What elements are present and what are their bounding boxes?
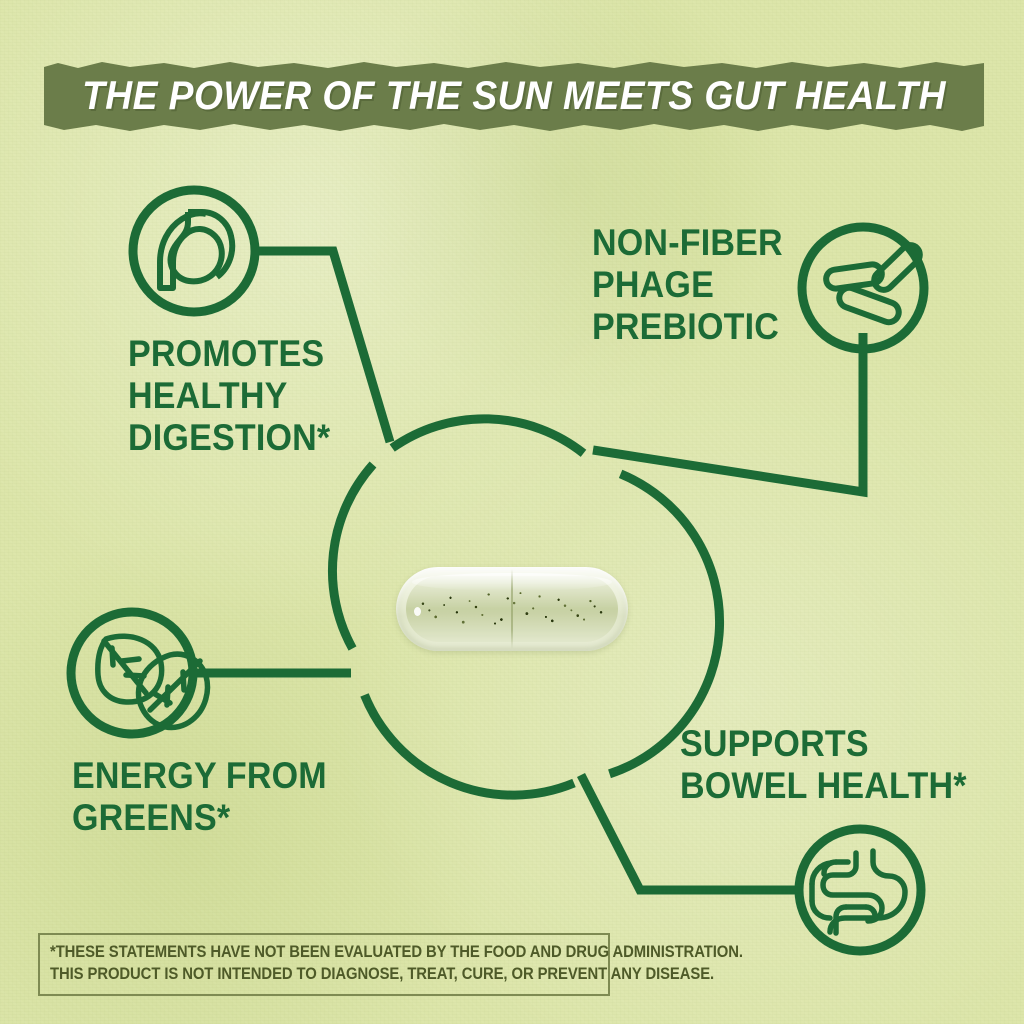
disclaimer-box: *THESE STATEMENTS HAVE NOT BEEN EVALUATE… <box>38 933 610 996</box>
feature-label-supports-bowel-health: SUPPORTS BOWEL HEALTH* <box>680 723 967 807</box>
capsule-product-image <box>396 567 628 651</box>
feature-label-promotes-healthy-digestion: PROMOTES HEALTHY DIGESTION* <box>128 333 330 458</box>
capsule-bubble <box>414 607 421 616</box>
disclaimer-line-2: THIS PRODUCT IS NOT INTENDED TO DIAGNOSE… <box>50 964 543 986</box>
intestine-icon <box>812 851 905 933</box>
feature-label-non-fiber-phage-prebiotic: NON-FIBER PHAGE PREBIOTIC <box>592 222 783 347</box>
capsule-body <box>396 567 628 651</box>
connector-phage <box>593 333 863 492</box>
capsule-seam <box>511 569 513 649</box>
stomach-icon-ring <box>133 190 255 312</box>
stomach-icon <box>160 212 232 288</box>
infographic-canvas: THE POWER OF THE SUN MEETS GUT HEALTH <box>0 0 1024 1024</box>
feature-diagram <box>0 0 1024 1024</box>
feature-label-energy-from-greens: ENERGY FROM GREENS* <box>72 755 327 839</box>
disclaimer-line-1: *THESE STATEMENTS HAVE NOT BEEN EVALUATE… <box>50 942 543 964</box>
